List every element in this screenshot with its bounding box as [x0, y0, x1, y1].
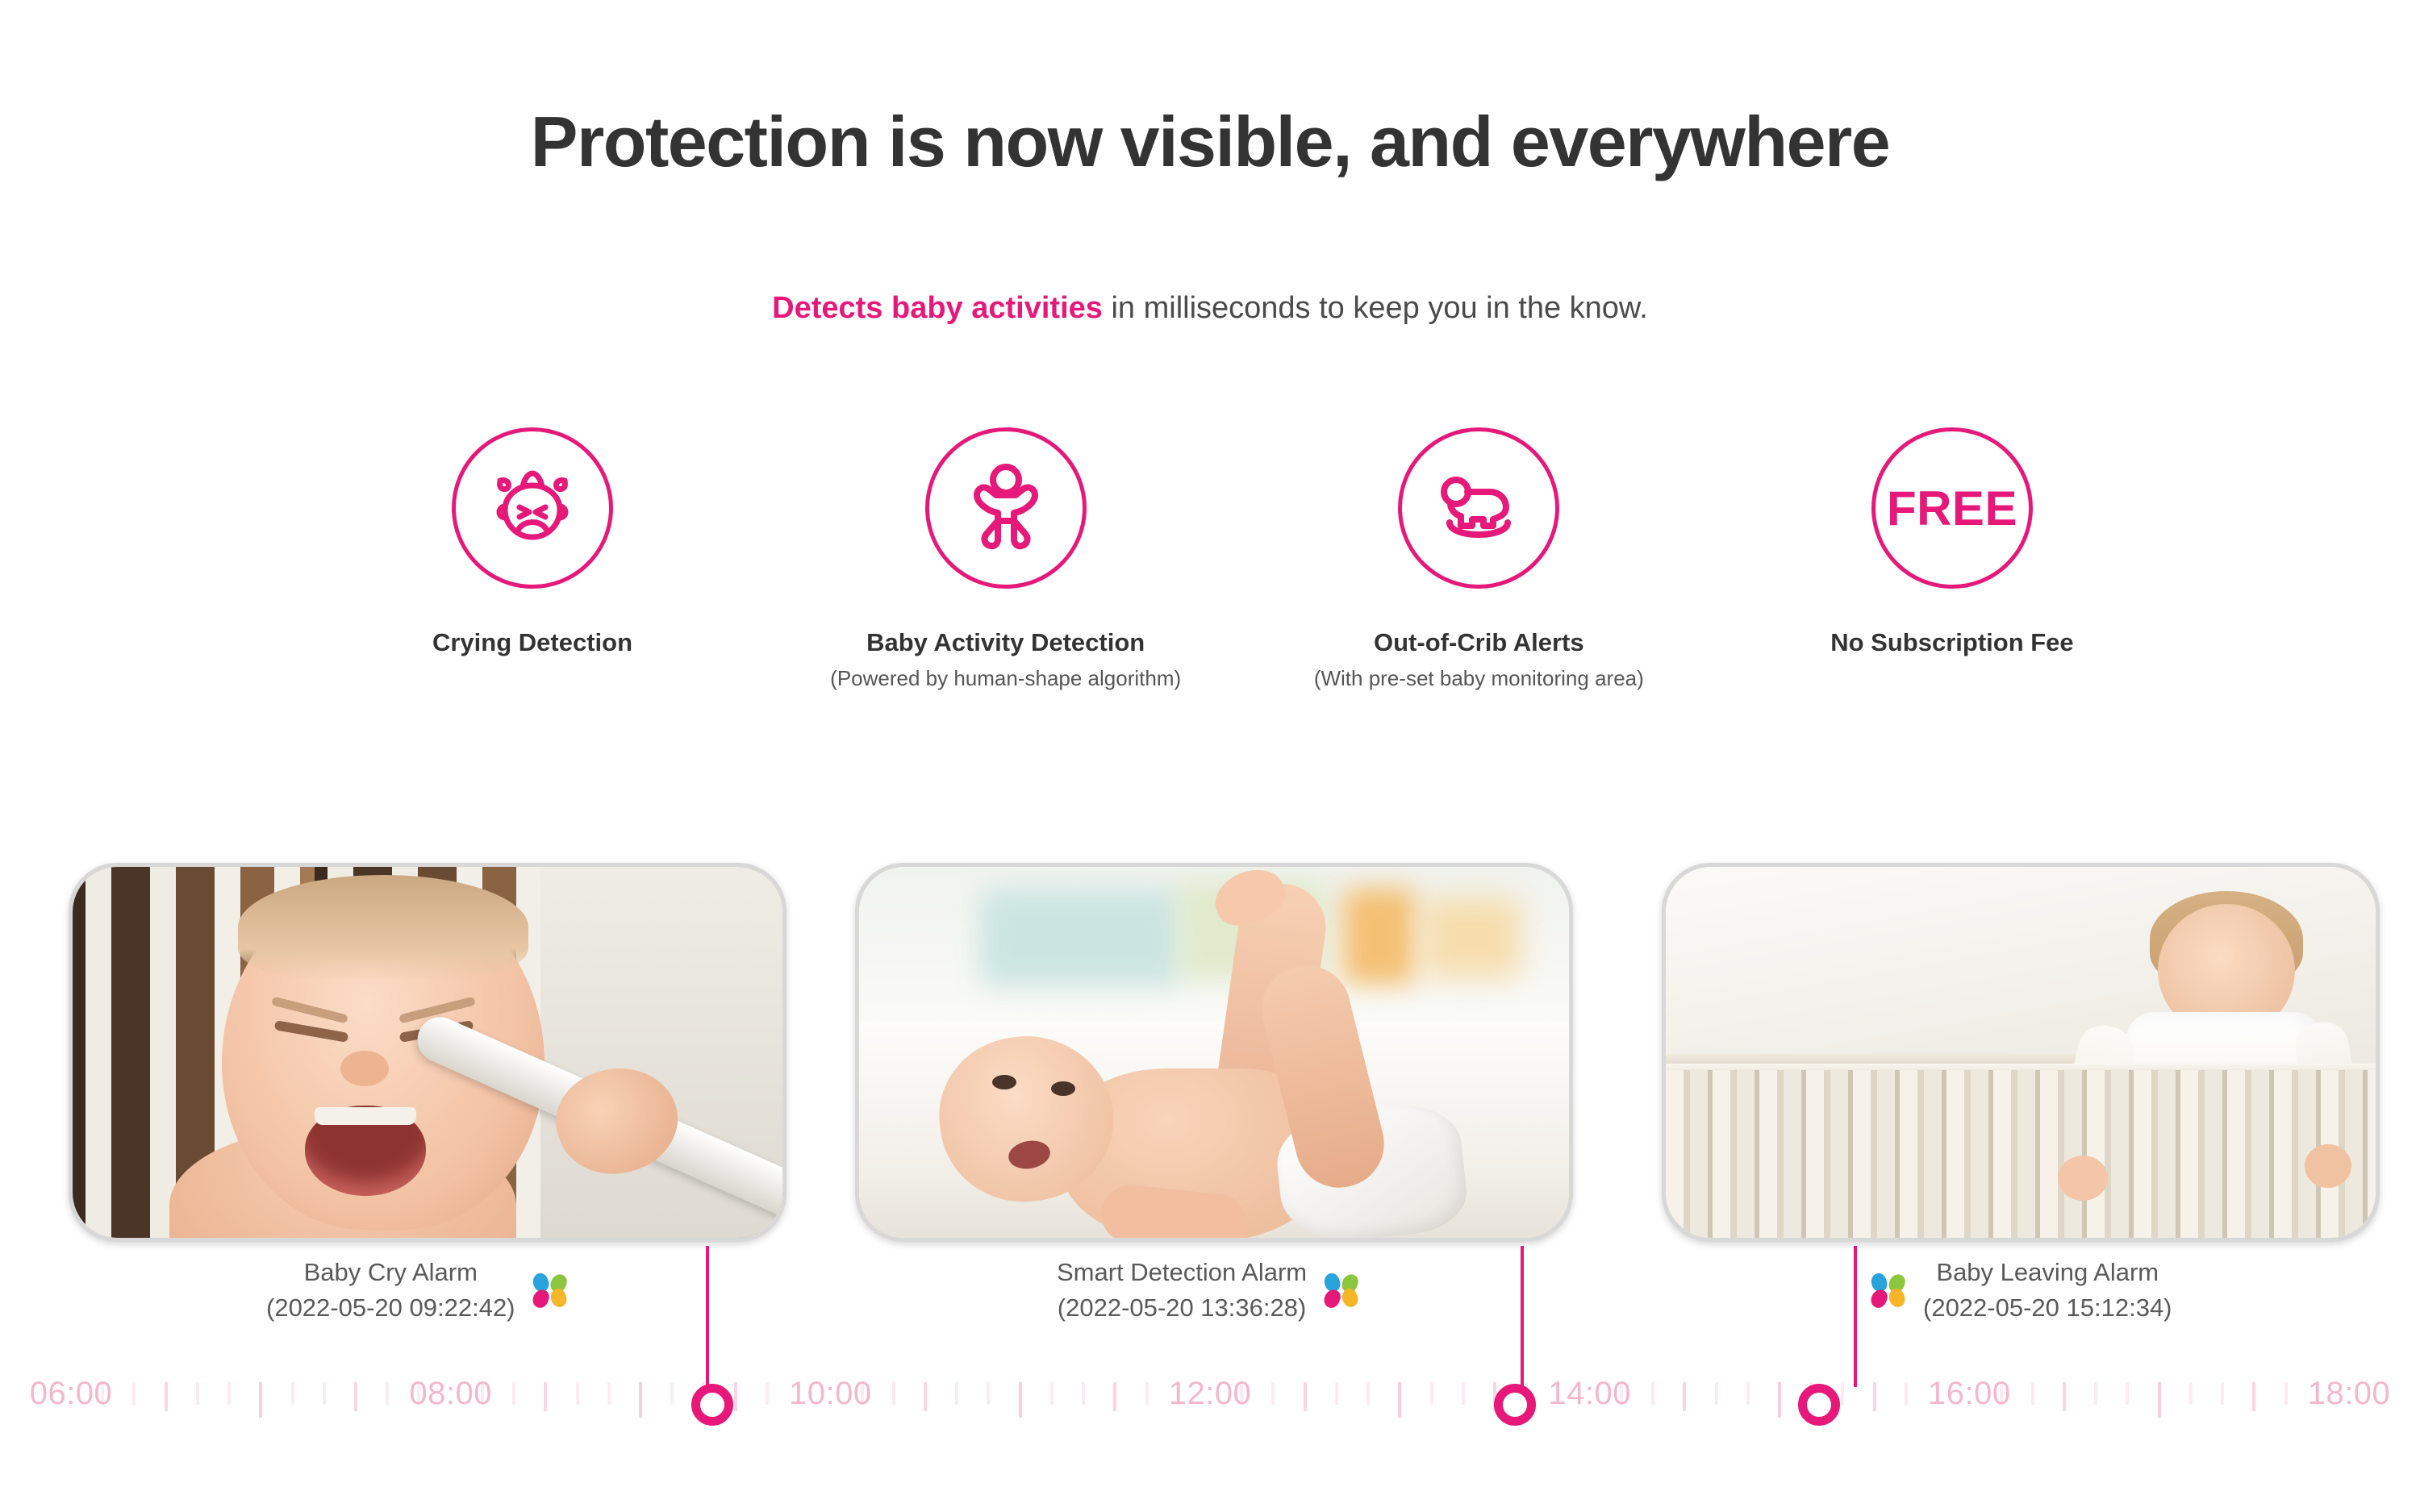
timeline-tick	[2031, 1382, 2034, 1405]
pinwheel-logo	[1871, 1273, 1905, 1307]
timeline-tick	[2126, 1382, 2129, 1405]
timeline-tick	[227, 1382, 231, 1405]
timeline-label: 10:00	[789, 1371, 872, 1416]
feature-subtitle: (Powered by human-shape algorithm)	[830, 665, 1181, 692]
alarm-timestamp: (2022-05-20 09:22:42)	[266, 1290, 515, 1326]
alarm-name: Baby Leaving Alarm	[1923, 1255, 2172, 1290]
connector-line-1	[706, 1246, 709, 1387]
subtitle-accent-text: Detects baby activities	[772, 291, 1103, 325]
timeline-label-text: 10:00	[789, 1371, 872, 1416]
timeline-tick	[607, 1382, 611, 1405]
timeline-label-text: 08:00	[409, 1371, 492, 1416]
timeline-label-text: 14:00	[1548, 1371, 1631, 1416]
subtitle-rest-text: in milliseconds to keep you in the know.	[1103, 291, 1648, 325]
connector-line-2	[1521, 1246, 1524, 1387]
timeline-tick	[1462, 1382, 1465, 1405]
timeline-tick	[1651, 1382, 1654, 1405]
timeline-tick	[924, 1382, 927, 1411]
feature-baby-activity-detection: Baby Activity Detection (Powered by huma…	[780, 427, 1232, 691]
alarm-name: Baby Cry Alarm	[266, 1255, 515, 1290]
page-subtitle: Detects baby activities in milliseconds …	[0, 289, 2420, 328]
timeline-label: 12:00	[1169, 1371, 1252, 1416]
alarm-caption-text: Baby Cry Alarm (2022-05-20 09:22:42)	[266, 1255, 515, 1326]
timeline-tick	[892, 1382, 895, 1405]
timeline-tick	[576, 1382, 579, 1405]
timeline-tick	[1430, 1382, 1433, 1405]
feature-out-of-crib-alerts: Out-of-Crib Alerts (With pre-set baby mo…	[1253, 427, 1704, 691]
crying-baby-in-crib-photo	[73, 867, 782, 1238]
timeline-label: 16:00	[1928, 1371, 2011, 1416]
timeline-label-text: 12:00	[1169, 1371, 1252, 1416]
timeline-tick	[987, 1382, 990, 1405]
timeline-tick	[639, 1382, 642, 1418]
timeline-tick	[1304, 1382, 1307, 1411]
free-badge-icon: FREE	[1871, 427, 2033, 589]
timeline-tick	[386, 1382, 389, 1405]
feature-title: Crying Detection	[432, 627, 632, 659]
feature-list: Crying Detection Baby Activity Detection…	[307, 427, 2178, 691]
timeline-label-text: 06:00	[30, 1371, 113, 1416]
timeline-tick	[1082, 1382, 1085, 1405]
alarm-name: Smart Detection Alarm	[1057, 1255, 1307, 1290]
timeline-tick	[2189, 1382, 2193, 1405]
timeline-tick	[259, 1382, 262, 1418]
timeline-tick	[1905, 1382, 1908, 1405]
timeline-tick	[165, 1382, 168, 1411]
feature-crying-detection: Crying Detection	[307, 427, 758, 665]
timeline-tick	[734, 1382, 737, 1411]
alarm-card-smart-detection[interactable]	[855, 863, 1573, 1242]
feature-title: Baby Activity Detection	[866, 627, 1145, 659]
connector-line-3	[1854, 1246, 1857, 1387]
timeline-tick	[1841, 1382, 1844, 1405]
alarm-card-list	[0, 863, 2420, 1242]
alarm-caption-text: Smart Detection Alarm (2022-05-20 13:36:…	[1057, 1255, 1307, 1326]
timeline-tick	[544, 1382, 547, 1411]
baby-lying-on-back-photo	[859, 867, 1569, 1238]
timeline-tick	[2158, 1382, 2161, 1418]
alarm-card-baby-leaving[interactable]	[1662, 863, 2380, 1242]
pinwheel-logo	[1325, 1273, 1358, 1307]
timeline-tick	[1050, 1382, 1054, 1405]
timeline-tick	[1145, 1382, 1149, 1405]
timeline-tick	[2094, 1382, 2097, 1405]
timeline-label: 14:00	[1548, 1371, 1631, 1416]
feature-no-subscription-fee: FREE No Subscription Fee	[1726, 427, 2178, 665]
timeline-label: 18:00	[2308, 1371, 2391, 1416]
timeline-tick	[1113, 1382, 1116, 1411]
timeline-tick	[1398, 1382, 1401, 1418]
alarm-timestamp: (2022-05-20 13:36:28)	[1057, 1290, 1307, 1326]
timeline-event-marker-2[interactable]	[1494, 1384, 1536, 1426]
timeline-tick	[2252, 1382, 2255, 1411]
timeline-tick	[1683, 1382, 1686, 1411]
timeline-tick	[1746, 1382, 1750, 1405]
timeline-tick	[1366, 1382, 1370, 1405]
marketing-page: Protection is now visible, and everywher…	[0, 0, 2420, 1512]
timeline-tick	[1019, 1382, 1022, 1418]
alarm-caption-1: Baby Cry Alarm (2022-05-20 09:22:42)	[266, 1255, 567, 1326]
feature-title: No Subscription Fee	[1830, 627, 2073, 659]
timeline-tick	[670, 1382, 674, 1405]
pinwheel-logo	[533, 1273, 567, 1307]
alarm-caption-3: Baby Leaving Alarm (2022-05-20 15:12:34)	[1871, 1255, 2172, 1326]
timeline-tick	[132, 1382, 136, 1405]
timeline-tick	[766, 1382, 769, 1405]
alarm-card-baby-cry[interactable]	[69, 863, 786, 1242]
baby-body-icon	[925, 427, 1087, 589]
timeline-tick	[955, 1382, 958, 1405]
timeline-tick	[2063, 1382, 2066, 1411]
timeline-tick	[1778, 1382, 1781, 1418]
timeline-tick	[1271, 1382, 1275, 1405]
timeline-event-marker-1[interactable]	[691, 1384, 733, 1426]
timeline[interactable]: 06:0008:0010:0012:0014:0016:0018:00	[0, 1371, 2420, 1435]
timeline-label: 06:00	[30, 1371, 113, 1416]
timeline-label-text: 16:00	[1928, 1371, 2011, 1416]
alarm-timestamp: (2022-05-20 15:12:34)	[1923, 1290, 2172, 1326]
feature-title: Out-of-Crib Alerts	[1374, 627, 1584, 659]
crying-baby-face-icon	[452, 427, 613, 589]
timeline-tick	[354, 1382, 357, 1411]
feature-subtitle: (With pre-set baby monitoring area)	[1314, 665, 1644, 692]
timeline-tick	[291, 1382, 294, 1405]
timeline-tick	[196, 1382, 199, 1405]
alarm-caption-text: Baby Leaving Alarm (2022-05-20 15:12:34)	[1923, 1255, 2172, 1326]
free-badge-label: FREE	[1887, 481, 2017, 536]
timeline-tick	[2221, 1382, 2224, 1405]
timeline-label: 08:00	[409, 1371, 492, 1416]
alarm-caption-2: Smart Detection Alarm (2022-05-20 13:36:…	[1057, 1255, 1358, 1326]
page-title: Protection is now visible, and everywher…	[0, 103, 2420, 181]
crawling-baby-icon	[1398, 427, 1559, 589]
timeline-tick	[323, 1382, 326, 1405]
timeline-tick	[1873, 1382, 1876, 1411]
timeline-tick	[512, 1382, 515, 1405]
timeline-tick	[1715, 1382, 1718, 1405]
baby-standing-at-crib-photo	[1666, 867, 2376, 1238]
timeline-tick	[2284, 1382, 2288, 1405]
timeline-tick	[1335, 1382, 1338, 1405]
timeline-event-marker-3[interactable]	[1798, 1384, 1840, 1426]
timeline-label-text: 18:00	[2308, 1371, 2391, 1416]
